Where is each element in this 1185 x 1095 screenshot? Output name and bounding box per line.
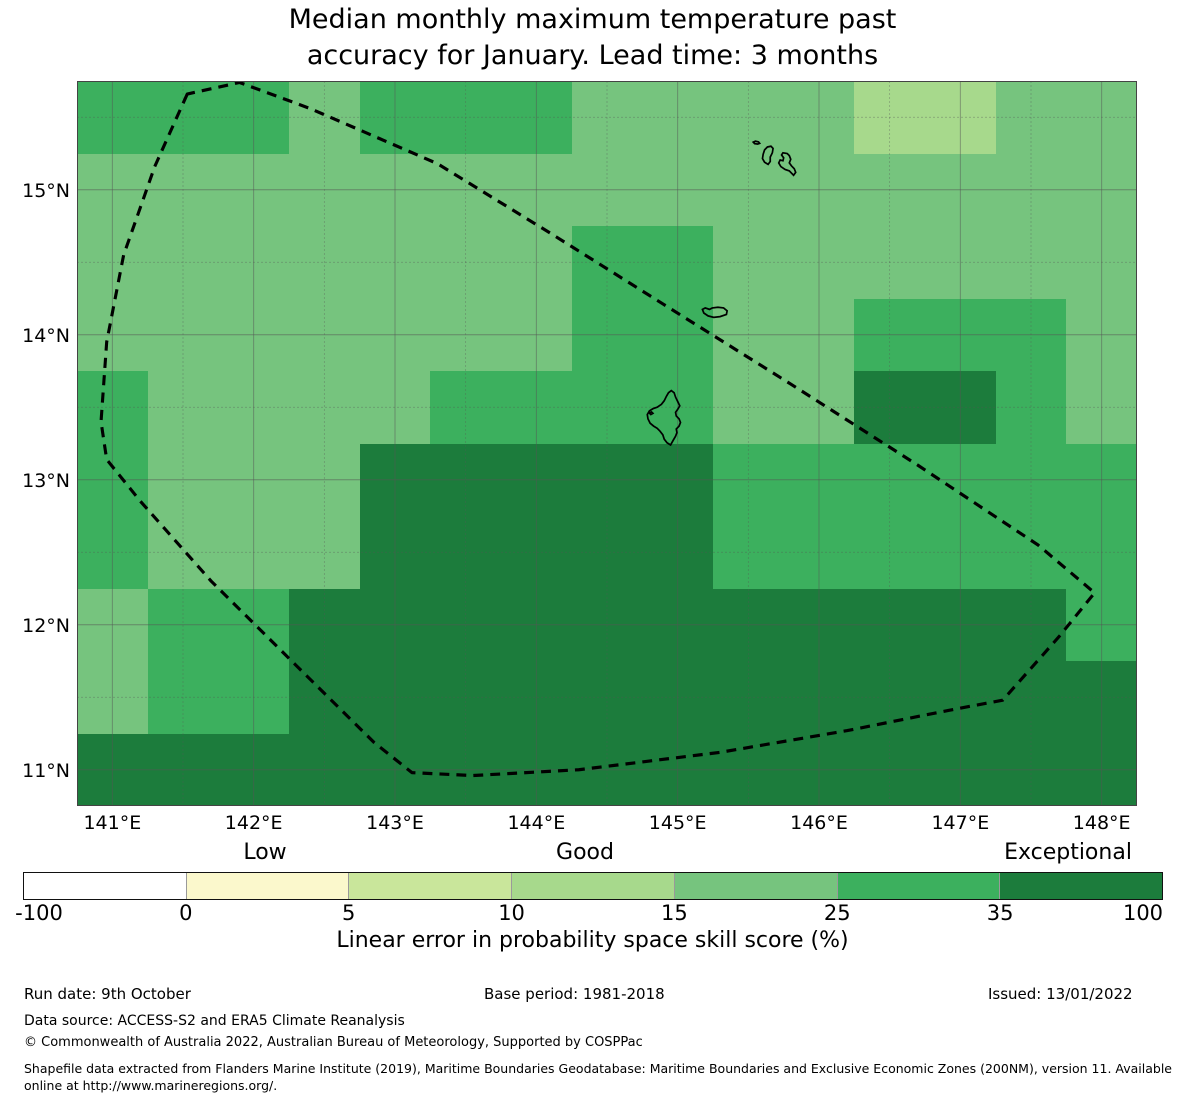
x-axis-tick-label: 147°E	[905, 812, 1015, 834]
colorbar-tick-label: 100	[1123, 901, 1163, 925]
x-axis-tick-label: 141°E	[57, 812, 167, 834]
y-axis-tick-label: 14°N	[2, 325, 70, 347]
x-axis-tick-label: 145°E	[623, 812, 733, 834]
x-axis-ticks: 141°E142°E143°E144°E145°E146°E147°E148°E	[77, 812, 1137, 842]
copyright: © Commonwealth of Australia 2022, Austra…	[24, 1035, 643, 1050]
colorbar-segment	[1000, 873, 1162, 899]
x-axis-tick-label: 142°E	[199, 812, 309, 834]
issued-date: Issued: 13/01/2022	[988, 985, 1133, 1003]
island-outlines	[647, 141, 795, 445]
title-line-1: Median monthly maximum temperature past	[0, 2, 1185, 38]
shapefile-attribution: Shapefile data extracted from Flanders M…	[24, 1060, 1174, 1094]
eez-boundary-line	[101, 82, 1095, 775]
title-line-2: accuracy for January. Lead time: 3 month…	[0, 38, 1185, 74]
x-axis-tick-label: 143°E	[340, 812, 450, 834]
colorbar-segment	[187, 873, 350, 899]
colorbar-category-label: Exceptional	[1004, 840, 1132, 865]
y-axis-tick-label: 11°N	[2, 760, 70, 782]
colorbar-category-label: Good	[556, 840, 614, 865]
colorbar-segment	[24, 873, 187, 899]
colorbar-segment	[512, 873, 675, 899]
colorbar-segment	[675, 873, 838, 899]
saipan-outline	[779, 153, 796, 175]
x-axis-tick-label: 144°E	[481, 812, 591, 834]
page-title: Median monthly maximum temperature past …	[0, 2, 1185, 74]
colorbar-tick-label: 10	[498, 901, 525, 925]
colorbar-category-labels: LowGoodExceptional	[0, 840, 1185, 868]
x-axis-tick-label: 148°E	[1047, 812, 1157, 834]
x-axis-tick-label: 146°E	[764, 812, 874, 834]
y-axis-tick-label: 12°N	[2, 615, 70, 637]
colorbar-tick-label: -100	[15, 901, 63, 925]
colorbar-axis-label: Linear error in probability space skill …	[0, 928, 1185, 953]
base-period: Base period: 1981-2018	[484, 985, 665, 1003]
colorbar-segment	[349, 873, 512, 899]
colorbar-tick-labels: -1000510152535100	[0, 901, 1185, 927]
map-plot-area[interactable]	[77, 81, 1137, 806]
colorbar-tick-label: 0	[179, 901, 192, 925]
y-axis-tick-label: 13°N	[2, 470, 70, 492]
run-date: Run date: 9th October	[24, 985, 191, 1003]
map-overlays	[77, 81, 1137, 806]
colorbar-category-label: Low	[243, 840, 286, 865]
colorbar[interactable]	[23, 872, 1163, 900]
colorbar-tick-label: 5	[342, 901, 355, 925]
y-axis-tick-label: 15°N	[2, 180, 70, 202]
tinian-outline	[762, 146, 773, 164]
y-axis-ticks: 15°N14°N13°N12°N11°N	[0, 81, 70, 806]
aguijan-outline	[753, 141, 759, 144]
colorbar-tick-label: 25	[824, 901, 851, 925]
guam-lagoon-mark	[649, 412, 653, 415]
colorbar-segment	[838, 873, 1001, 899]
rota-outline	[702, 307, 727, 317]
data-source: Data source: ACCESS-S2 and ERA5 Climate …	[24, 1013, 405, 1029]
guam-outline	[647, 391, 680, 445]
colorbar-tick-label: 35	[987, 901, 1014, 925]
colorbar-tick-label: 15	[661, 901, 688, 925]
